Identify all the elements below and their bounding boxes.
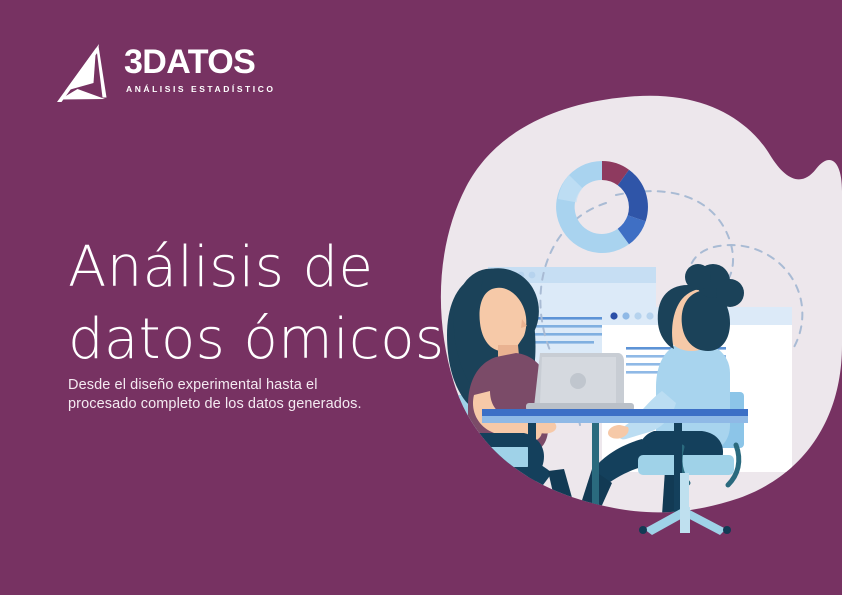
page-title-line-2: datos ómicos [68,304,488,376]
office-chair-right-seat [638,455,734,475]
logo-tagline: ANÁLISIS ESTADÍSTICO [126,85,304,94]
two-people-at-desk-data-analysis-illustration [430,95,842,535]
page-subtitle-line-1: Desde el diseño experimental hasta el [68,376,468,395]
logo-name: 3DATOS [124,45,304,79]
page-subtitle-line-2: procesado completo de los datos generado… [68,395,468,414]
triangle-logo-icon [52,42,114,106]
page-title-line-1: Análisis de [68,232,488,304]
brand-logo[interactable]: 3DATOS ANÁLISIS ESTADÍSTICO [52,42,312,114]
office-chair-left-seat [446,447,532,467]
page-title: Análisis de datos ómicos [68,232,488,376]
page-subtitle: Desde el diseño experimental hasta el pr… [68,376,468,414]
slide-canvas: 3DATOS ANÁLISIS ESTADÍSTICO Análisis de … [0,0,842,595]
logo-wordmark: 3DATOS ANÁLISIS ESTADÍSTICO [124,45,304,94]
laptop [526,353,634,411]
